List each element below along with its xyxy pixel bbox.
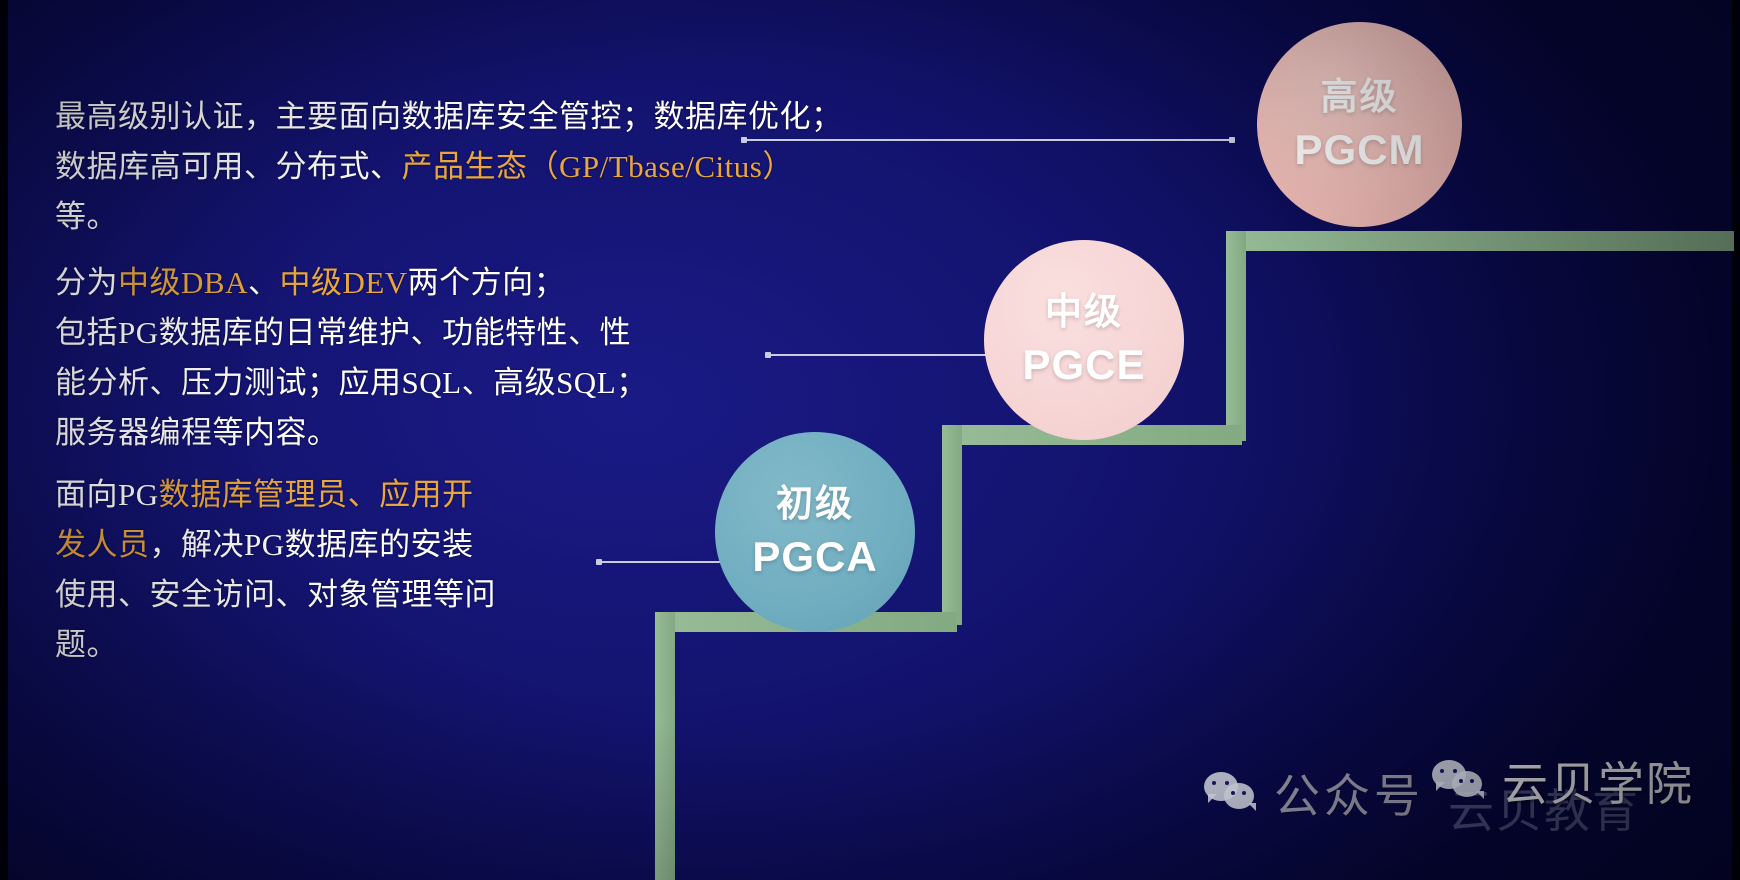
badge-pgca[interactable]: 初级 PGCA — [715, 432, 915, 632]
badge-pgca-level: 初级 — [776, 482, 854, 526]
stair-tread-top — [1226, 231, 1734, 251]
pgce-description-line: 服务器编程等内容。 — [55, 408, 648, 458]
stair-riser-middle — [942, 425, 962, 625]
pgce-description-run: 两个方向； — [408, 265, 566, 300]
stair-riser-top — [1226, 231, 1246, 441]
pgce-description-line: 包括PG数据库的日常维护、功能特性、性 — [55, 308, 648, 358]
pgcm-description-run: 数据库高可用、分布式、 — [55, 149, 402, 184]
pgce-description-run: 服务器编程等内容。 — [55, 415, 339, 450]
pgca-description-line: 面向PG数据库管理员、应用开 — [55, 470, 496, 520]
wechat-icon-secondary — [1432, 760, 1488, 802]
pgce-description-line: 分为中级DBA、中级DEV两个方向； — [55, 258, 648, 308]
badge-pgcm-level: 高级 — [1321, 75, 1399, 119]
pgcm-description: 最高级别认证，主要面向数据库安全管控；数据库优化；数据库高可用、分布式、产品生态… — [55, 92, 843, 242]
badge-pgcm-cert: PGCM — [1295, 125, 1425, 175]
badge-pgce[interactable]: 中级 PGCE — [984, 240, 1184, 440]
pgca-description: 面向PG数据库管理员、应用开发人员，解决PG数据库的安装使用、安全访问、对象管理… — [55, 470, 496, 670]
pgce-description-run: 分为 — [55, 265, 118, 300]
slide-canvas: 最高级别认证，主要面向数据库安全管控；数据库优化；数据库高可用、分布式、产品生态… — [0, 0, 1740, 880]
badge-pgcm[interactable]: 高级 PGCM — [1257, 22, 1462, 227]
watermark-public-account: 公众号 — [1204, 760, 1424, 826]
badge-pgce-cert: PGCE — [1022, 340, 1145, 390]
pgcm-description-run: 产品生态 — [402, 149, 528, 184]
pgce-description-run: 、 — [248, 265, 280, 300]
watermark-brand-bright: 云贝学院 — [1432, 748, 1694, 814]
badge-pgce-level: 中级 — [1045, 290, 1123, 334]
pgcm-description-run: 等。 — [55, 199, 118, 234]
badge-pgca-cert: PGCA — [752, 532, 877, 582]
stair-riser-bottom — [655, 612, 675, 880]
pgce-description-run: 包括PG数据库的日常维护、功能特性、性 — [55, 315, 631, 350]
pgcm-description-run: 最高级别认证，主要面向数据库安全管控；数据库优化； — [55, 99, 843, 134]
pgcm-description-line: 数据库高可用、分布式、产品生态（GP/Tbase/Citus） — [55, 142, 843, 192]
pgca-description-line: 使用、安全访问、对象管理等问 — [55, 570, 496, 620]
pgcm-description-run: （GP/Tbase/Citus） — [528, 149, 794, 184]
wechat-icon — [1204, 772, 1260, 814]
pgca-description-run: 面向PG — [55, 477, 159, 512]
pgca-description-run: ，解决PG数据库的安装 — [150, 527, 474, 562]
pgca-description-run: 数据库管理员、应用开 — [159, 477, 474, 512]
pgce-description-run: 中级DEV — [279, 265, 407, 300]
watermark-public-account-label: 公众号 — [1274, 760, 1424, 826]
pgca-description-run: 发人员 — [55, 527, 150, 562]
pgce-description-run: 能分析、压力测试；应用SQL、高级SQL； — [55, 365, 648, 400]
pgca-description-run: 题。 — [55, 627, 118, 662]
pgce-description-line: 能分析、压力测试；应用SQL、高级SQL； — [55, 358, 648, 408]
watermark-brand-bright-label: 云贝学院 — [1502, 748, 1694, 814]
pgca-description-run: 使用、安全访问、对象管理等问 — [55, 577, 496, 612]
pgcm-description-line: 最高级别认证，主要面向数据库安全管控；数据库优化； — [55, 92, 843, 142]
pgca-description-line: 发人员，解决PG数据库的安装 — [55, 520, 496, 570]
pgce-description-run: 中级DBA — [118, 265, 248, 300]
pgca-description-line: 题。 — [55, 620, 496, 670]
pgce-description: 分为中级DBA、中级DEV两个方向；包括PG数据库的日常维护、功能特性、性能分析… — [55, 258, 648, 458]
pgcm-description-line: 等。 — [55, 192, 843, 242]
